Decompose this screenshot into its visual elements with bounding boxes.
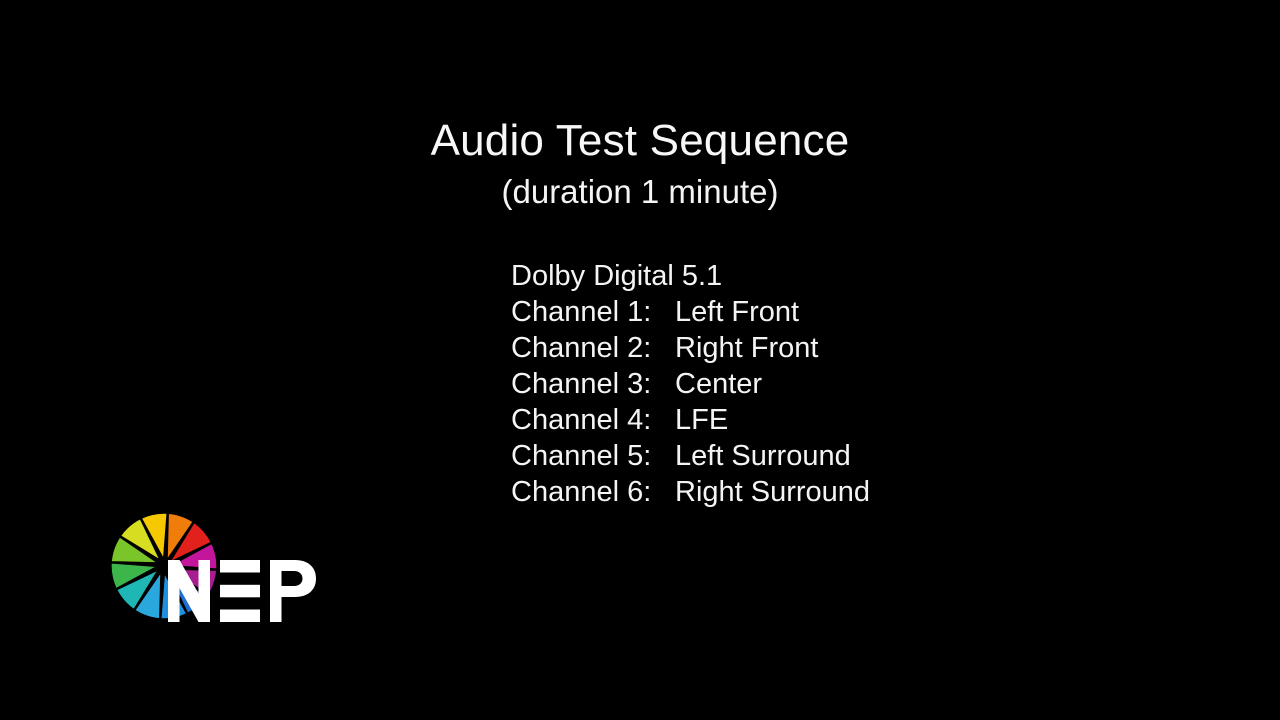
logo-letter-n: [168, 560, 210, 622]
page-title: Audio Test Sequence: [0, 118, 1280, 165]
logo-letter-e-bar-bottom: [220, 610, 260, 623]
slide-canvas: Audio Test Sequence (duration 1 minute) …: [0, 0, 1280, 720]
channel-label: Channel 2:: [511, 330, 675, 366]
nep-wordmark: [168, 560, 318, 622]
nep-logo: [110, 512, 315, 634]
channel-name: Right Front: [675, 330, 818, 366]
channel-label: Channel 5:: [511, 438, 675, 474]
channel-name: Right Surround: [675, 474, 870, 510]
logo-letter-p: [270, 560, 316, 622]
list-item: Channel 3:Center: [511, 366, 870, 402]
channel-name: Left Surround: [675, 438, 851, 474]
channel-name: Center: [675, 366, 762, 402]
logo-letter-e-bar-top: [220, 560, 260, 573]
channel-label: Channel 6:: [511, 474, 675, 510]
audio-format-label: Dolby Digital 5.1: [511, 258, 870, 294]
channel-label: Channel 1:: [511, 294, 675, 330]
logo-letter-e-bar-middle: [220, 585, 260, 598]
channel-label: Channel 4:: [511, 402, 675, 438]
list-item: Channel 1:Left Front: [511, 294, 870, 330]
channel-name: Left Front: [675, 294, 799, 330]
audio-channel-list: Dolby Digital 5.1 Channel 1:Left Front C…: [511, 258, 870, 510]
list-item: Channel 6:Right Surround: [511, 474, 870, 510]
page-subtitle: (duration 1 minute): [0, 172, 1280, 212]
list-item: Channel 5:Left Surround: [511, 438, 870, 474]
title-block: Audio Test Sequence (duration 1 minute): [0, 118, 1280, 211]
channel-name: LFE: [675, 402, 728, 438]
list-item: Channel 2:Right Front: [511, 330, 870, 366]
list-item: Channel 4:LFE: [511, 402, 870, 438]
channel-label: Channel 3:: [511, 366, 675, 402]
